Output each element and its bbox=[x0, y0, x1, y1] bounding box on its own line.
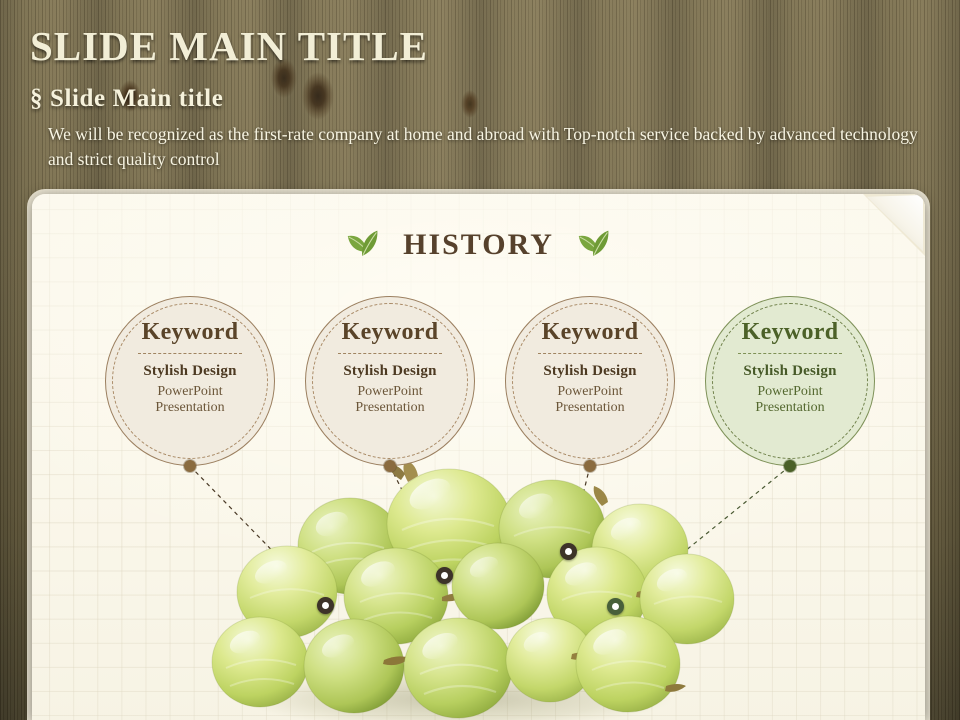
card-connector-dot bbox=[584, 460, 596, 472]
slide-body-text: We will be recognized as the first-rate … bbox=[48, 122, 928, 172]
keyword-card-3[interactable]: Keyword Stylish Design PowerPointPresent… bbox=[505, 296, 675, 466]
card-description: PowerPointPresentation bbox=[755, 384, 824, 416]
section-heading: HISTORY bbox=[32, 228, 925, 262]
subtitle-block: § Slide Main title bbox=[30, 85, 223, 113]
fruit-marker-1[interactable] bbox=[317, 597, 334, 614]
card-divider bbox=[138, 353, 242, 354]
paper-sheet: HISTORY bbox=[32, 194, 925, 720]
keyword-card-1[interactable]: Keyword Stylish Design PowerPointPresent… bbox=[105, 296, 275, 466]
card-subheading: Stylish Design bbox=[543, 363, 636, 380]
card-connector-dot bbox=[384, 460, 396, 472]
card-subheading: Stylish Design bbox=[143, 363, 236, 380]
keyword-card-2[interactable]: Keyword Stylish Design PowerPointPresent… bbox=[305, 296, 475, 466]
card-divider bbox=[738, 353, 842, 354]
fruit-marker-2[interactable] bbox=[436, 567, 453, 584]
card-connector-dot bbox=[184, 460, 196, 472]
slide-subtitle: § Slide Main title bbox=[30, 85, 223, 113]
card-heading: Keyword bbox=[742, 319, 839, 346]
card-heading: Keyword bbox=[542, 319, 639, 346]
card-subheading: Stylish Design bbox=[743, 363, 836, 380]
card-connector-dot bbox=[784, 460, 796, 472]
page-curl-icon bbox=[863, 194, 925, 256]
leaf-icon-left bbox=[345, 228, 381, 262]
keyword-card-4[interactable]: Keyword Stylish Design PowerPointPresent… bbox=[705, 296, 875, 466]
card-description: PowerPointPresentation bbox=[355, 384, 424, 416]
card-description: PowerPointPresentation bbox=[555, 384, 624, 416]
fruit-marker-4[interactable] bbox=[607, 598, 624, 615]
card-heading: Keyword bbox=[142, 319, 239, 346]
page-title: SLIDE MAIN TITLE bbox=[30, 22, 428, 70]
card-heading: Keyword bbox=[342, 319, 439, 346]
card-divider bbox=[538, 353, 642, 354]
fruit-marker-3[interactable] bbox=[560, 543, 577, 560]
card-description: PowerPointPresentation bbox=[155, 384, 224, 416]
card-divider bbox=[338, 353, 442, 354]
card-subheading: Stylish Design bbox=[343, 363, 436, 380]
leaf-icon-right bbox=[576, 228, 612, 262]
section-title: HISTORY bbox=[403, 228, 554, 262]
